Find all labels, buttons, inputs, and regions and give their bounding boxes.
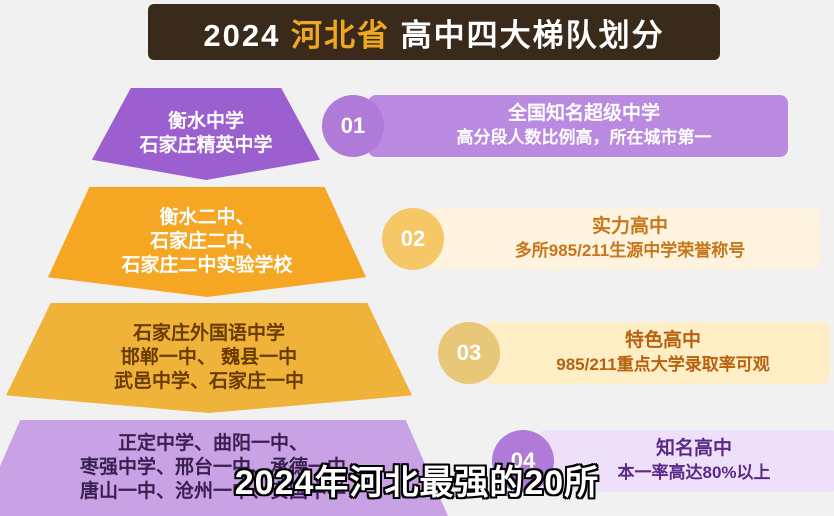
- title-rest: 高中四大梯队划分: [401, 18, 665, 53]
- tier-2-school-line: 石家庄二中、: [121, 230, 292, 254]
- tier-2-title: 实力高中: [592, 216, 668, 238]
- tier-1-subtitle: 高分段人数比例高，所在城市第一: [457, 128, 712, 148]
- pyramid-tier-1: 衡水中学 石家庄精英中学: [92, 88, 320, 180]
- title-year: 2024: [203, 18, 280, 53]
- tier-3-school-line: 武邑中学、石家庄一中: [114, 370, 304, 394]
- tier-2-school-line: 衡水二中、: [121, 206, 292, 230]
- title-province: 河北省: [291, 18, 390, 53]
- tier-3-school-line: 邯郸一中、 魏县一中: [114, 346, 304, 370]
- tier-1-description: 全国知名超级中学 高分段人数比例高，所在城市第一: [368, 95, 788, 157]
- tier-1-label-row: 01 全国知名超级中学 高分段人数比例高，所在城市第一: [322, 95, 788, 157]
- video-caption: 2024年河北最强的20所: [0, 455, 834, 504]
- tier-2-subtitle: 多所985/211生源中学荣誉称号: [515, 241, 746, 261]
- tier-1-badge: 01: [322, 95, 384, 157]
- tier-1-school-line: 衡水中学: [139, 110, 272, 134]
- tier-2-badge: 02: [382, 208, 444, 270]
- tier-3-school-line: 石家庄外国语中学: [114, 322, 304, 346]
- tier-4-school-line: 正定中学、曲阳一中、: [80, 432, 346, 456]
- tier-3-badge: 03: [438, 322, 500, 384]
- tier-2-description: 实力高中 多所985/211生源中学荣誉称号: [428, 208, 820, 270]
- tier-2-schools: 衡水二中、 石家庄二中、 石家庄二中实验学校: [121, 206, 292, 279]
- pyramid-tier-3: 石家庄外国语中学 邯郸一中、 魏县一中 武邑中学、石家庄一中: [6, 303, 412, 413]
- tier-3-label-row: 03 特色高中 985/211重点大学录取率可观: [438, 322, 830, 384]
- tier-3-subtitle: 985/211重点大学录取率可观: [556, 355, 770, 375]
- page-title: 2024 河北省 高中四大梯队划分: [203, 10, 664, 55]
- tier-1-schools: 衡水中学 石家庄精英中学: [139, 110, 272, 159]
- tier-2-school-line: 石家庄二中实验学校: [121, 254, 292, 278]
- tier-1-title: 全国知名超级中学: [508, 103, 660, 125]
- infographic-canvas: 2024 河北省 高中四大梯队划分 衡水中学 石家庄精英中学 衡水二中、 石家庄…: [0, 0, 834, 512]
- tier-2-label-row: 02 实力高中 多所985/211生源中学荣誉称号: [382, 208, 820, 270]
- tier-3-title: 特色高中: [625, 330, 701, 352]
- page-title-bar: 2024 河北省 高中四大梯队划分: [148, 4, 720, 60]
- tier-3-schools: 石家庄外国语中学 邯郸一中、 魏县一中 武邑中学、石家庄一中: [114, 322, 304, 395]
- tier-1-school-line: 石家庄精英中学: [139, 134, 272, 158]
- tier-3-description: 特色高中 985/211重点大学录取率可观: [484, 322, 830, 384]
- pyramid-tier-2: 衡水二中、 石家庄二中、 石家庄二中实验学校: [48, 187, 366, 297]
